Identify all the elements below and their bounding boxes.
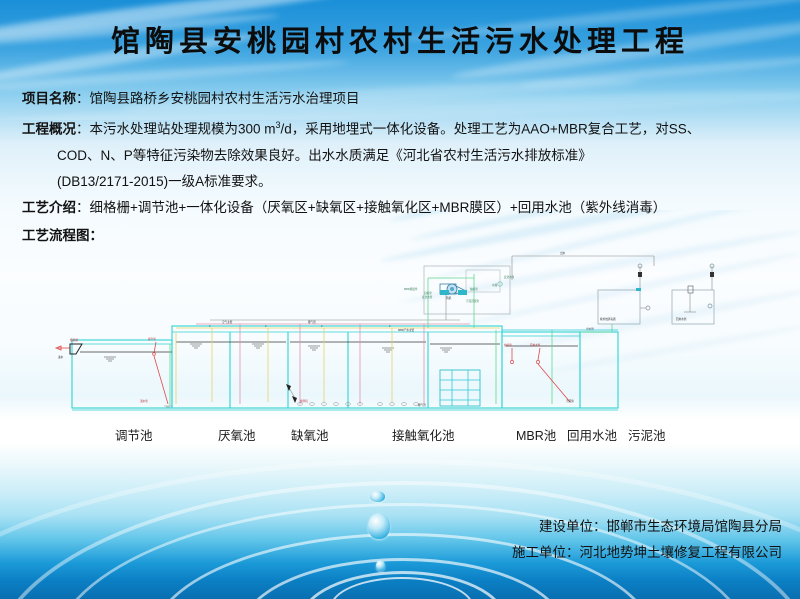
- svg-text:曝气管: 曝气管: [308, 320, 316, 324]
- water-droplet-small: [370, 491, 385, 502]
- inlet-grate-symbol: 细格栅 进水: [56, 338, 82, 359]
- craft-intro-label: 工艺介绍: [22, 200, 76, 215]
- svg-text:回用水泵: 回用水泵: [530, 343, 541, 347]
- craft-intro-row: 工艺介绍：细格栅+调节池+一体化设备（厌氧区+缺氧区+接触氧化区+MBR膜区）+…: [22, 198, 666, 218]
- svg-text:紫外线消毒器: 紫外线消毒器: [600, 317, 616, 321]
- svg-text:反洗水管: 反洗水管: [422, 295, 433, 299]
- svg-text:曝气管: 曝气管: [418, 403, 426, 407]
- aeration-diffusers: [298, 403, 419, 406]
- pool-label-6: 污泥池: [628, 425, 666, 444]
- svg-text:进水: 进水: [58, 355, 64, 359]
- svg-text:抽吸泵: 抽吸泵: [504, 343, 512, 347]
- footer-construction-unit: 建设单位：邯郸市生态环境局馆陶县分局: [539, 515, 782, 535]
- footer-contractor-unit: 施工单位：河北地势坤土壤修复工程有限公司: [512, 541, 782, 561]
- svg-text:污泥泵: 污泥泵: [566, 399, 574, 403]
- mixer-symbol: 搅拌机: [286, 384, 308, 403]
- project-name-value: ：馆陶县路桥乡安桃园村农村生活污水治理项目: [76, 91, 360, 106]
- project-name-label: 项目名称: [22, 91, 76, 106]
- svg-text:污泥回流泵: 污泥回流泵: [466, 299, 479, 303]
- svg-text:MBR膜组件: MBR膜组件: [404, 287, 418, 291]
- svg-text:出水: 出水: [560, 251, 566, 255]
- overview-line1-head: ：本污水处理站处理规模为300 m: [76, 122, 276, 137]
- pool-label-2: 缺氧池: [291, 425, 329, 444]
- svg-text:细格栅: 细格栅: [70, 338, 78, 342]
- water-droplet-large: [368, 513, 390, 539]
- svg-text:反洗水泵: 反洗水泵: [504, 275, 515, 279]
- right-equipment-boxes: 出水 紫外线消毒器 回: [512, 251, 714, 324]
- lift-pump: 提升泵 潜水泵: [140, 337, 172, 407]
- overview-line1-tail: /d，采用地埋式一体化设备。处理工艺为AAO+MBR复合工艺，对SS、: [281, 122, 701, 137]
- project-name-row: 项目名称：馆陶县路桥乡安桃园村农村生活污水治理项目: [22, 89, 360, 109]
- overview-row-3: (DB13/2171-2015)一级A标准要求。: [57, 172, 272, 192]
- svg-text:潜水泵: 潜水泵: [140, 399, 148, 403]
- poster-root: 馆陶县安桃园村农村生活污水处理工程 项目名称：馆陶县路桥乡安桃园村农村生活污水治…: [0, 0, 800, 599]
- pool-label-row: 调节池 厌氧池 缺氧池 接触氧化池 MBR池 回用水池 污泥池: [0, 425, 800, 445]
- pool-label-4: MBR池: [516, 425, 556, 444]
- mbr-equipment-group: 反洗水泵 水箱 MBR膜组件 抽吸泵 自吸泵 反洗水管 污泥回流泵: [404, 266, 515, 328]
- svg-text:风机: 风机: [446, 296, 452, 300]
- overview-row-1: 工程概况：本污水处理站处理规模为300 m3/d，采用地埋式一体化设备。处理工艺…: [22, 119, 700, 139]
- svg-text:提升泵: 提升泵: [148, 337, 156, 341]
- overview-label: 工程概况: [22, 122, 76, 137]
- blower-symbol: 风机: [440, 284, 464, 320]
- page-title: 馆陶县安桃园村农村生活污水处理工程: [0, 18, 800, 60]
- craft-intro-value: ：细格栅+调节池+一体化设备（厌氧区+缺氧区+接触氧化区+MBR膜区）+回用水池…: [76, 200, 666, 215]
- svg-text:空气主管: 空气主管: [222, 320, 233, 324]
- process-flow-diagram: .tank{fill:none;stroke:#2fd3d3;stroke-wi…: [0, 236, 800, 436]
- mbr-membrane-module: 抽吸泵: [440, 343, 514, 406]
- water-droplet-tiny: [376, 560, 385, 571]
- svg-text:搅拌机: 搅拌机: [300, 399, 308, 403]
- svg-text:MBR产水主管: MBR产水主管: [398, 328, 415, 332]
- pool-label-3: 接触氧化池: [392, 425, 455, 444]
- pool-label-5: 回用水池: [567, 425, 617, 444]
- pool-label-0: 调节池: [115, 425, 153, 444]
- svg-text:自吸泵: 自吸泵: [424, 291, 432, 295]
- overview-row-2: COD、N、P等特征污染物去除效果良好。出水水质满足《河北省农村生活污水排放标准…: [57, 146, 592, 166]
- svg-text:回用水池: 回用水池: [676, 317, 687, 321]
- svg-text:抽吸泵: 抽吸泵: [470, 287, 478, 291]
- pool-label-1: 厌氧池: [218, 425, 256, 444]
- svg-text:水箱: 水箱: [492, 283, 498, 287]
